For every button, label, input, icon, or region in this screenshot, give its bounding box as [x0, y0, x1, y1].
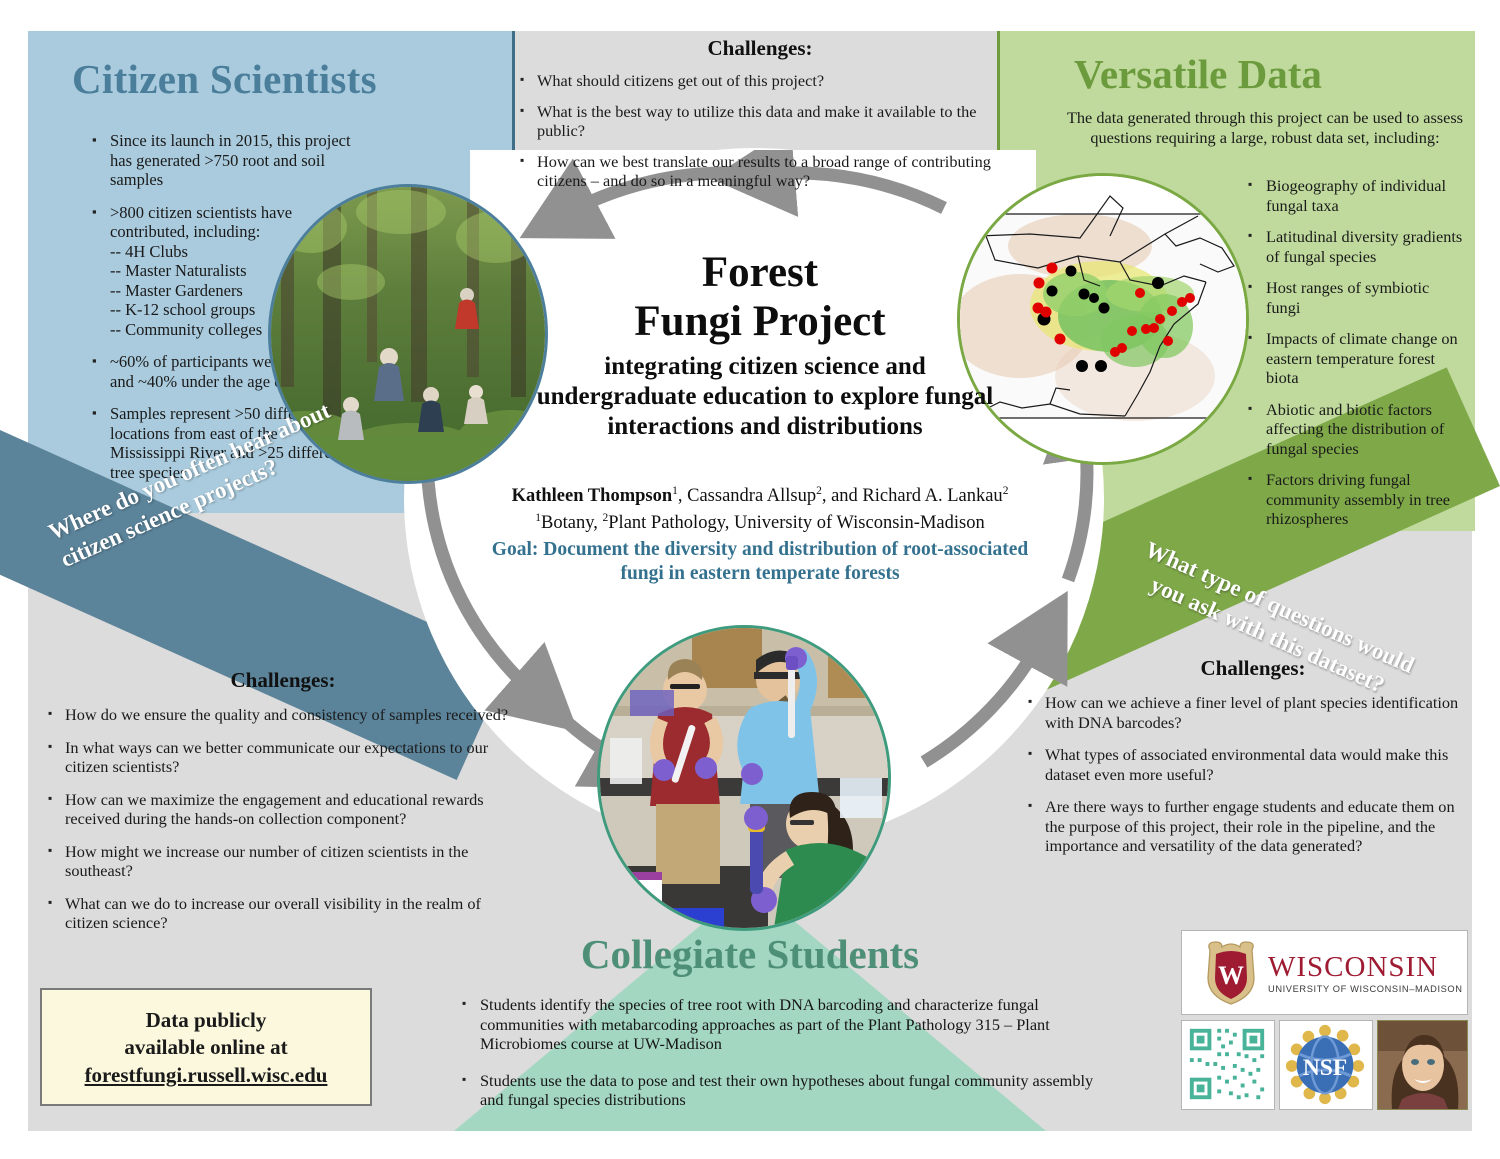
- affil-dept-2: Plant Pathology, University of Wisconsin…: [608, 513, 984, 533]
- distribution-map-image: [960, 176, 1246, 462]
- list-item: Factors driving fungal community assembl…: [1248, 470, 1463, 529]
- challenges-top-list: What should citizens get out of this pro…: [520, 71, 1000, 191]
- data-availability-line2: available online at: [124, 1034, 287, 1061]
- challenges-top: Challenges: What should citizens get out…: [520, 36, 1000, 202]
- author-secondary: , Cassandra Allsup: [678, 486, 816, 506]
- collegiate-students-heading: Collegiate Students: [430, 930, 1070, 978]
- project-goal: Goal: Document the diversity and distrib…: [470, 538, 1050, 586]
- citizen-scientists-heading: Citizen Scientists: [72, 55, 492, 103]
- list-item: Since its launch in 2015, this project h…: [92, 131, 357, 190]
- contributors-lead: >800 citizen scientists have contributed…: [110, 203, 292, 242]
- poster-title-line2: Fungi Project: [560, 297, 960, 346]
- challenges-bottom-right-heading: Challenges:: [1028, 656, 1478, 681]
- list-item: Impacts of climate change on eastern tem…: [1248, 329, 1463, 388]
- list-item: What is the best way to utilize this dat…: [520, 102, 1000, 141]
- poster-title: Forest Fungi Project: [560, 248, 960, 346]
- list-item: How might we increase our number of citi…: [48, 842, 518, 881]
- list-item: How can we achieve a finer level of plan…: [1028, 693, 1478, 732]
- data-availability-line1: Data publicly: [146, 1007, 267, 1034]
- list-item: How can we maximize the engagement and e…: [48, 790, 518, 829]
- list-item: In what ways can we better communicate o…: [48, 738, 518, 777]
- wisconsin-subtitle: UNIVERSITY OF WISCONSIN–MADISON: [1268, 984, 1463, 994]
- list-item: Are there ways to further engage student…: [1028, 797, 1478, 856]
- list-item: Students use the data to pose and test t…: [462, 1071, 1102, 1110]
- list-item: Students identify the species of tree ro…: [462, 995, 1102, 1054]
- wisconsin-logo: W WISCONSIN UNIVERSITY OF WISCONSIN–MADI…: [1181, 930, 1468, 1015]
- list-item: What types of associated environmental d…: [1028, 745, 1478, 784]
- challenges-bottom-left-list: How do we ensure the quality and consist…: [48, 705, 518, 933]
- list-item: How can we best translate our results to…: [520, 152, 1000, 191]
- affil-dept-1: Botany,: [541, 513, 603, 533]
- presenter-headshot: [1377, 1020, 1468, 1110]
- affiliation-line: 1Botany, 2Plant Pathology, University of…: [440, 507, 1080, 534]
- list-item: How do we ensure the quality and consist…: [48, 705, 518, 725]
- versatile-data-intro: The data generated through this project …: [1065, 108, 1465, 147]
- lab-students-photo-image: [600, 628, 888, 928]
- challenges-bottom-left-heading: Challenges:: [48, 668, 518, 693]
- lab-students-photo: [597, 625, 891, 931]
- wisconsin-word: WISCONSIN: [1268, 951, 1463, 984]
- list-item: Biogeography of individual fungal taxa: [1248, 176, 1463, 215]
- challenges-bottom-left: Challenges: How do we ensure the quality…: [48, 668, 518, 946]
- nsf-logo-icon: NSF: [1279, 1020, 1373, 1110]
- challenges-top-heading: Challenges:: [520, 36, 1000, 61]
- project-website-link[interactable]: forestfungi.russell.wisc.edu: [85, 1063, 328, 1088]
- list-item: Abiotic and biotic factors affecting the…: [1248, 400, 1463, 459]
- poster-root: Citizen Scientists Since its launch in 2…: [0, 0, 1500, 1159]
- versatile-data-heading: Versatile Data: [1074, 50, 1474, 98]
- list-item: Host ranges of symbiotic fungi: [1248, 278, 1463, 317]
- list-item: Latitudinal diversity gradients of funga…: [1248, 227, 1463, 266]
- author-primary: Kathleen Thompson: [512, 486, 673, 506]
- authors-line: Kathleen Thompson1, Cassandra Allsup2, a…: [440, 480, 1080, 507]
- wisconsin-crest-letter: W: [1218, 961, 1244, 990]
- data-availability-box: Data publicly available online at forest…: [40, 988, 372, 1106]
- wisconsin-crest-icon: W: [1204, 940, 1258, 1006]
- poster-subtitle: integrating citizen science and undergra…: [530, 352, 1000, 442]
- collegiate-students-bullets: Students identify the species of tree ro…: [462, 995, 1102, 1127]
- nsf-label: NSF: [1303, 1055, 1347, 1081]
- distribution-map: [957, 173, 1249, 465]
- qr-code-icon[interactable]: [1181, 1020, 1275, 1110]
- poster-title-line1: Forest: [560, 248, 960, 297]
- author-affil-marker: 2: [1003, 485, 1009, 497]
- versatile-data-bullets: Biogeography of individual fungal taxa L…: [1248, 176, 1463, 541]
- author-tertiary: , and Richard A. Lankau: [822, 486, 1003, 506]
- challenges-bottom-right: Challenges: How can we achieve a finer l…: [1028, 656, 1478, 869]
- list-item: What should citizens get out of this pro…: [520, 71, 1000, 91]
- logo-group: W WISCONSIN UNIVERSITY OF WISCONSIN–MADI…: [1181, 930, 1466, 1110]
- challenges-bottom-right-list: How can we achieve a finer level of plan…: [1028, 693, 1478, 856]
- wisconsin-wordmark: WISCONSIN UNIVERSITY OF WISCONSIN–MADISO…: [1268, 951, 1463, 994]
- author-list: Kathleen Thompson1, Cassandra Allsup2, a…: [440, 480, 1080, 534]
- list-item: What can we do to increase our overall v…: [48, 894, 518, 933]
